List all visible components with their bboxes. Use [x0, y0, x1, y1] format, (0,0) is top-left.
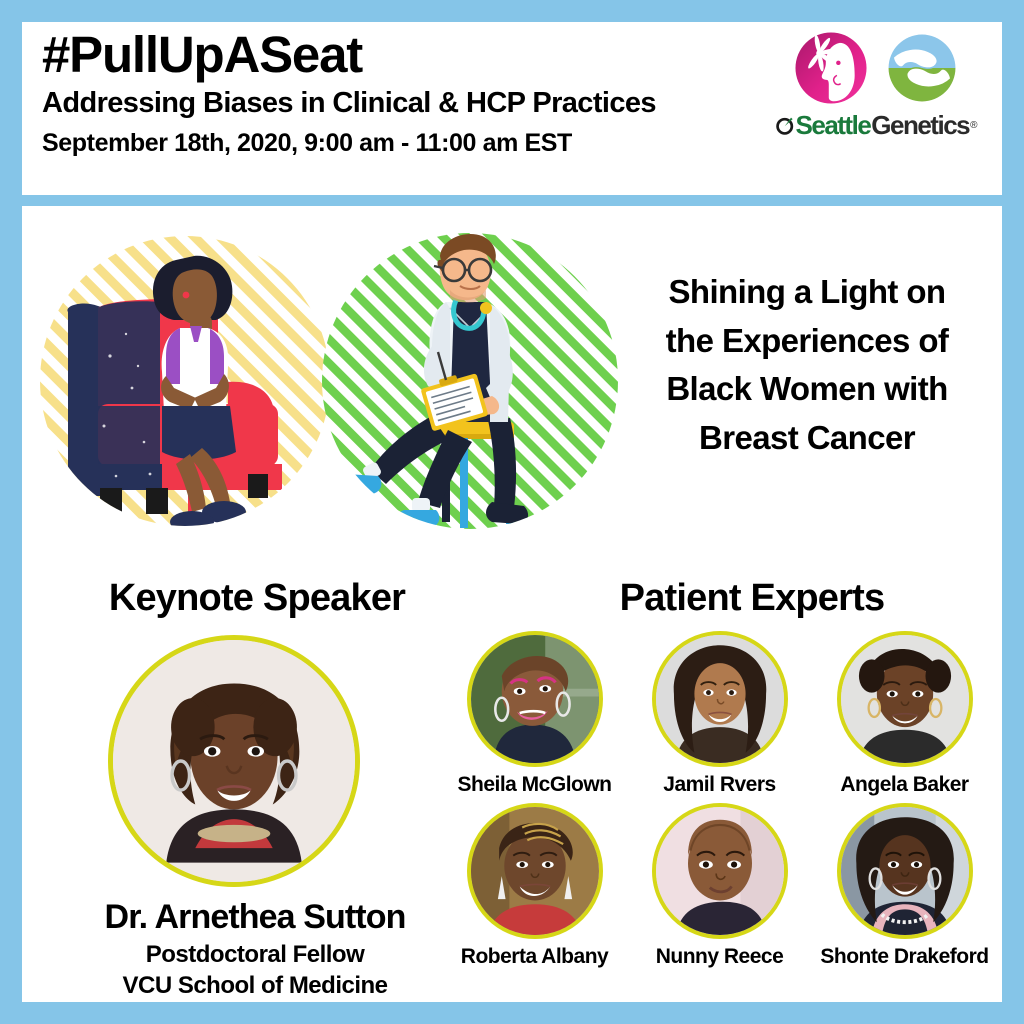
event-title-line-2: the Experiences of — [622, 317, 992, 366]
patient-expert-portrait — [656, 635, 784, 763]
event-datetime: September 18th, 2020, 9:00 am - 11:00 am… — [42, 127, 656, 161]
patient-expert-portrait — [841, 807, 969, 935]
patient-expert-name: Jamil Rvers — [663, 773, 775, 797]
patient-expert-name: Roberta Albany — [461, 945, 608, 969]
logo-row — [769, 28, 984, 108]
patient-expert-card: Angela Baker — [812, 631, 997, 797]
event-title-line-3: Black Women with — [622, 365, 992, 414]
patient-expert-portrait — [656, 807, 784, 935]
event-title-line-1: Shining a Light on — [622, 268, 992, 317]
logo-group: SeattleGenetics® — [769, 28, 984, 141]
keynote-role-line-2: VCU School of Medicine — [40, 971, 470, 1002]
patient-expert-name: Shonte Drakeford — [820, 945, 988, 969]
seattle-genetics-wordmark: SeattleGenetics® — [769, 110, 984, 141]
blue-separator-bar — [0, 195, 1024, 206]
main-panel: Shining a Light on the Experiences of Bl… — [22, 206, 1002, 1002]
keynote-speaker-name: Dr. Arnethea Sutton — [40, 898, 470, 937]
event-title-line-4: Breast Cancer — [622, 414, 992, 463]
keynote-speaker-heading: Keynote Speaker — [62, 577, 452, 620]
seattle-genetics-mark-icon — [776, 116, 795, 135]
patient-expert-name: Nunny Reece — [656, 945, 784, 969]
patient-expert-name: Angela Baker — [840, 773, 968, 797]
keynote-speaker-portrait — [113, 640, 355, 882]
webinar-promo-poster: #PullUpASeat Addressing Biases in Clinic… — [0, 0, 1024, 1024]
keynote-role-line-1: Postdoctoral Fellow — [40, 940, 470, 971]
patient-expert-photo — [467, 631, 603, 767]
hands-globe-icon — [884, 30, 960, 106]
wordmark-genetics: Genetics — [871, 110, 969, 141]
header-text-block: #PullUpASeat Addressing Biases in Clinic… — [42, 26, 656, 161]
patient-expert-card: Jamil Rvers — [627, 631, 812, 797]
wordmark-seattle: Seattle — [796, 110, 871, 141]
patient-expert-card: Roberta Albany — [442, 803, 627, 969]
patient-expert-photo — [652, 803, 788, 939]
patient-expert-photo — [467, 803, 603, 939]
patient-expert-name: Sheila McGlown — [457, 773, 611, 797]
event-title: Shining a Light on the Experiences of Bl… — [622, 268, 992, 462]
event-subtitle: Addressing Biases in Clinical & HCP Prac… — [42, 85, 656, 123]
doctor-with-clipboard-illustration — [320, 216, 620, 546]
keynote-speaker-role: Postdoctoral Fellow VCU School of Medici… — [40, 940, 470, 1001]
woman-in-armchair-illustration — [40, 216, 330, 546]
patient-expert-card: Nunny Reece — [627, 803, 812, 969]
patient-expert-portrait — [841, 635, 969, 763]
keynote-speaker-photo — [108, 635, 360, 887]
event-hashtag: #PullUpASeat — [42, 26, 656, 83]
patient-expert-card: Shonte Drakeford — [812, 803, 997, 969]
patient-experts-grid: Sheila McGlown — [442, 631, 997, 969]
patient-expert-portrait — [471, 807, 599, 935]
patient-expert-photo — [837, 803, 973, 939]
patient-expert-card: Sheila McGlown — [442, 631, 627, 797]
patient-experts-heading: Patient Experts — [552, 577, 952, 620]
header-panel: #PullUpASeat Addressing Biases in Clinic… — [22, 22, 1002, 195]
wordmark-registered-mark: ® — [970, 120, 977, 131]
patient-expert-photo — [652, 631, 788, 767]
patient-expert-portrait — [471, 635, 599, 763]
woman-profile-flower-icon — [794, 31, 868, 105]
patient-expert-photo — [837, 631, 973, 767]
